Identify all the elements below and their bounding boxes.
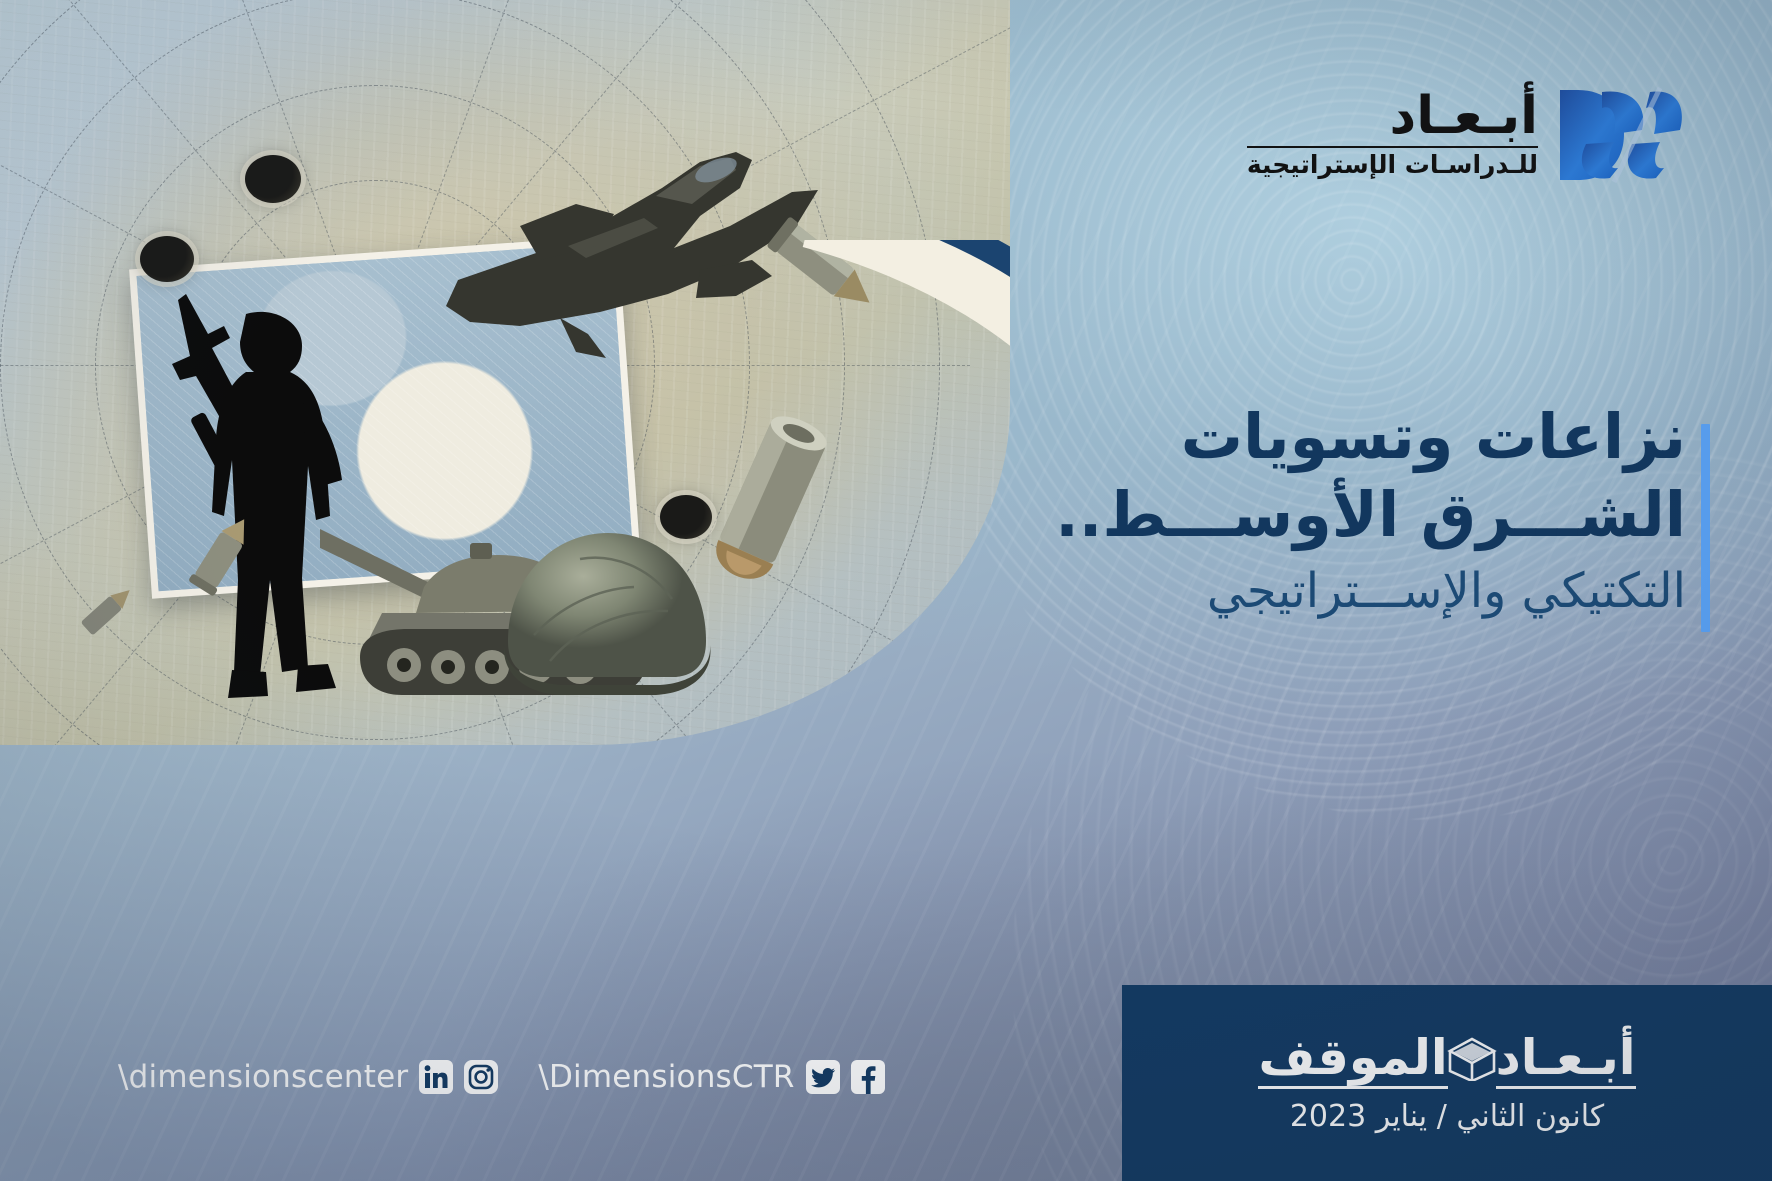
issue-date: كانون الثاني / يناير 2023 <box>1290 1099 1604 1134</box>
bullet-cartridge-small <box>170 510 280 620</box>
issue-badge: أبـعـاد الموقف كانون الثاني / يناير 2023 <box>1122 985 1772 1181</box>
badge-word-right: أبـعـاد <box>1496 1032 1636 1089</box>
bullet-cartridge <box>730 185 890 345</box>
bullet-hole <box>245 155 301 203</box>
bullet-hole <box>660 495 712 539</box>
logo-title: أبـعـاد <box>1247 90 1538 142</box>
linkedin-icon[interactable] <box>419 1060 453 1094</box>
dss-monogram-icon <box>1556 82 1684 187</box>
social-handle-2: \dimensionscenter <box>118 1059 408 1095</box>
twitter-icon[interactable] <box>806 1060 840 1094</box>
instagram-icon[interactable] <box>464 1060 498 1094</box>
bullet-cartridge-tiny <box>60 570 150 660</box>
social-footer: \DimensionsCTR \dimensionscenter <box>118 1059 885 1095</box>
brand-logo[interactable]: أبـعـاد للـدراسـات الإستراتيجية <box>1247 82 1684 187</box>
facebook-icon[interactable] <box>851 1060 885 1094</box>
bullet-cartridge-large <box>680 400 880 610</box>
title-line-2: الشـــرق الأوســـط.. <box>1055 476 1686 554</box>
title-accent-bar <box>1701 424 1710 632</box>
cube-icon <box>1444 1035 1500 1081</box>
poster-title: نزاعات وتسويات الشـــرق الأوســـط.. التك… <box>1055 398 1686 624</box>
logo-subtitle: للـدراسـات الإستراتيجية <box>1247 146 1538 179</box>
title-line-1: نزاعات وتسويات <box>1055 398 1686 476</box>
badge-word-left: الموقف <box>1258 1032 1447 1089</box>
title-line-3: التكتيكي والإســـتراتيجي <box>1055 559 1686 624</box>
badge-title: أبـعـاد الموقف <box>1258 1032 1635 1089</box>
social-handle-1: \DimensionsCTR <box>538 1059 794 1095</box>
collage-image <box>0 0 1010 745</box>
bullet-hole <box>140 236 194 282</box>
poster-canvas: أبـعـاد للـدراسـات الإستراتيجية نزاعات و… <box>0 0 1772 1181</box>
